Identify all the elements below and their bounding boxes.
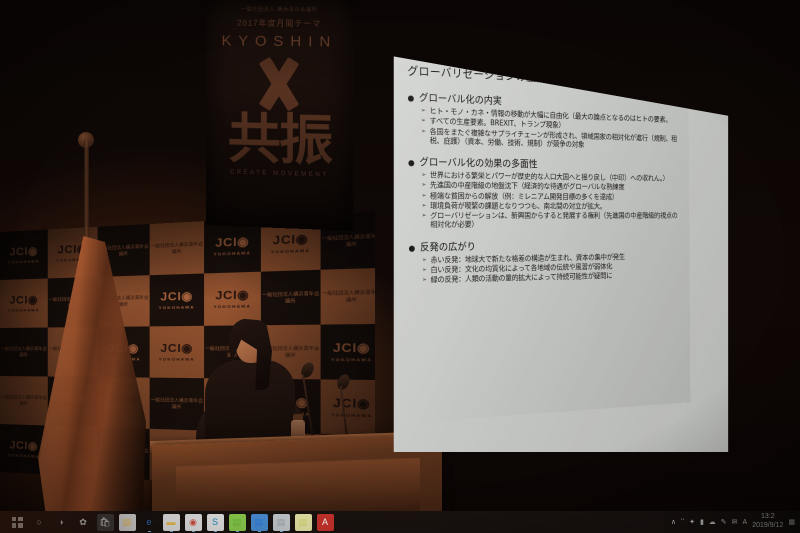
slide-section-heading: ●グローバル化の効果の多面性 [408, 153, 681, 172]
banner-shading [206, 0, 353, 231]
slide-bullet: ➢極端な貧困からの解放（例：ミレニアム開発目標の多くを達成） [421, 191, 681, 202]
slide-section-heading-text: グローバル化の効果の多面性 [419, 154, 537, 171]
flag-pole [84, 140, 89, 250]
sub-bullet-arrow-icon: ➢ [422, 265, 427, 273]
slide-bullet-text: 極端な貧困からの解放（例：ミレニアム開発目標の多くを達成） [430, 191, 618, 201]
presentation-slide: グローバリゼーションの歴史的意義 ●グローバル化の内実➢ヒト・モノ・カネ・情報の… [394, 46, 691, 424]
sub-bullet-arrow-icon: ➢ [421, 181, 426, 189]
slide-section: ●グローバル化の効果の多面性➢世界における繁栄とパワーが歴史的な人口大国へと揺り… [408, 153, 682, 229]
sub-bullet-arrow-icon: ➢ [421, 191, 426, 199]
slide-section-heading-text: グローバル化の内実 [419, 89, 502, 107]
slide-bullet: ➢グローバリゼーションは、新興国からすると発展する権利（先進国の中産階級的視点の… [422, 211, 682, 229]
action-center-icon[interactable]: ▦ [788, 518, 795, 526]
tray-volume-icon[interactable]: ▮ [700, 518, 704, 526]
chrome-icon[interactable]: ◉ [185, 514, 202, 531]
sub-bullet-arrow-icon: ➢ [421, 116, 426, 124]
tray-ime-icon[interactable]: ʼʻ [681, 519, 684, 526]
slide-bullet-text: グローバリゼーションは、新興国からすると発展する権利（先進国の中産階級的視点の相… [430, 211, 681, 229]
sub-bullet-arrow-icon: ➢ [421, 126, 426, 134]
tray-expand-icon[interactable]: ∧ [671, 518, 676, 526]
start-button[interactable] [9, 514, 26, 531]
sub-bullet-arrow-icon: ➢ [422, 255, 427, 263]
projection-screen: グローバリゼーションの歴史的意義 ●グローバル化の内実➢ヒト・モノ・カネ・情報の… [386, 40, 738, 452]
bullet-marker-icon: ● [408, 95, 415, 103]
explorer-icon[interactable]: ▤ [119, 514, 136, 531]
sub-bullet-arrow-icon: ➢ [422, 211, 427, 219]
taskbar-clock[interactable]: 13:2 2019/9/12 [752, 513, 783, 531]
tray-network-icon[interactable]: ✦ [689, 518, 695, 526]
slide-title: グローバリゼーションの歴史的意義 [407, 63, 680, 92]
slide-bullet-text: 先進国の中産階級の地盤沈下（経済的な待遇がグローバルな熟練度 [430, 181, 624, 192]
windows-taskbar[interactable]: ○◑✿🛍▤e▬◉S▤▤▤▤A ∧ ʼʻ ✦ ▮ ☁ ✎ ✉ A 13:2 201… [0, 511, 800, 533]
notes-icon[interactable]: ▤ [295, 514, 312, 531]
venue-theme-banner: 一般社団法人 横浜青年会議所 2017年度月間テーマ KYOSHIN 共振 CR… [206, 0, 353, 231]
clock-time: 13:2 [761, 513, 775, 520]
file-explorer-icon[interactable]: ▬ [163, 514, 180, 531]
sub-bullet-arrow-icon: ➢ [421, 170, 426, 178]
tray-mail-icon[interactable]: ✉ [732, 518, 738, 526]
windows-logo-icon [12, 517, 23, 528]
sub-bullet-arrow-icon: ➢ [422, 201, 427, 209]
tray-pen-icon[interactable]: ✎ [721, 518, 727, 526]
slide-section-heading: ●反発の広がり [408, 236, 681, 253]
cortana-search-icon[interactable]: ○ [31, 514, 48, 531]
tray-onedrive-icon[interactable]: ☁ [709, 518, 716, 526]
slide-bullet: ➢環境負荷が喫緊の課題となりつつも、南北間の対立が拡大。 [422, 201, 682, 211]
sub-bullet-arrow-icon: ➢ [421, 106, 426, 114]
store-icon[interactable]: 🛍 [97, 514, 114, 531]
slide-section-heading-text: 反発の広がり [420, 238, 476, 253]
conference-photo-scene: JCI◉YOKOHAMAJCI◉YOKOHAMA一般社団法人横浜青年会議所一般社… [0, 0, 800, 533]
sub-bullet-arrow-icon: ➢ [422, 275, 427, 283]
settings-gear-icon[interactable]: ✿ [75, 514, 92, 531]
task-view-icon[interactable]: ◑ [53, 514, 70, 531]
slide-bullet-text: 環境負荷が喫緊の課題となりつつも、南北間の対立が拡大。 [430, 201, 606, 210]
screen-content-area: グローバリゼーションの歴史的意義 ●グローバル化の内実➢ヒト・モノ・カネ・情報の… [386, 40, 738, 452]
excel-window-icon[interactable]: ▤ [251, 514, 268, 531]
slide-body: ●グローバル化の内実➢ヒト・モノ・カネ・情報の移動が大幅に自由化（最大の論点とな… [407, 89, 681, 285]
system-tray[interactable]: ∧ ʼʻ ✦ ▮ ☁ ✎ ✉ A 13:2 2019/9/12 ▦ [671, 513, 800, 531]
slide-section: ●反発の広がり➢赤い反発：地球大で新たな格差の構造が生まれ、資本の集中が発生➢白… [408, 236, 681, 285]
edge-icon[interactable]: e [141, 514, 158, 531]
clock-date: 2019/9/12 [752, 522, 783, 529]
bullet-marker-icon: ● [409, 244, 416, 252]
slide-section: ●グローバル化の内実➢ヒト・モノ・カネ・情報の移動が大幅に自由化（最大の論点とな… [407, 89, 681, 152]
powerpoint-window-icon[interactable]: ▤ [229, 514, 246, 531]
tray-ime-letter-icon[interactable]: A [743, 519, 748, 526]
bullet-marker-icon: ● [408, 159, 415, 167]
skype-icon[interactable]: S [207, 514, 224, 531]
word-icon[interactable]: ▤ [273, 514, 290, 531]
pdf-icon[interactable]: A [317, 514, 334, 531]
